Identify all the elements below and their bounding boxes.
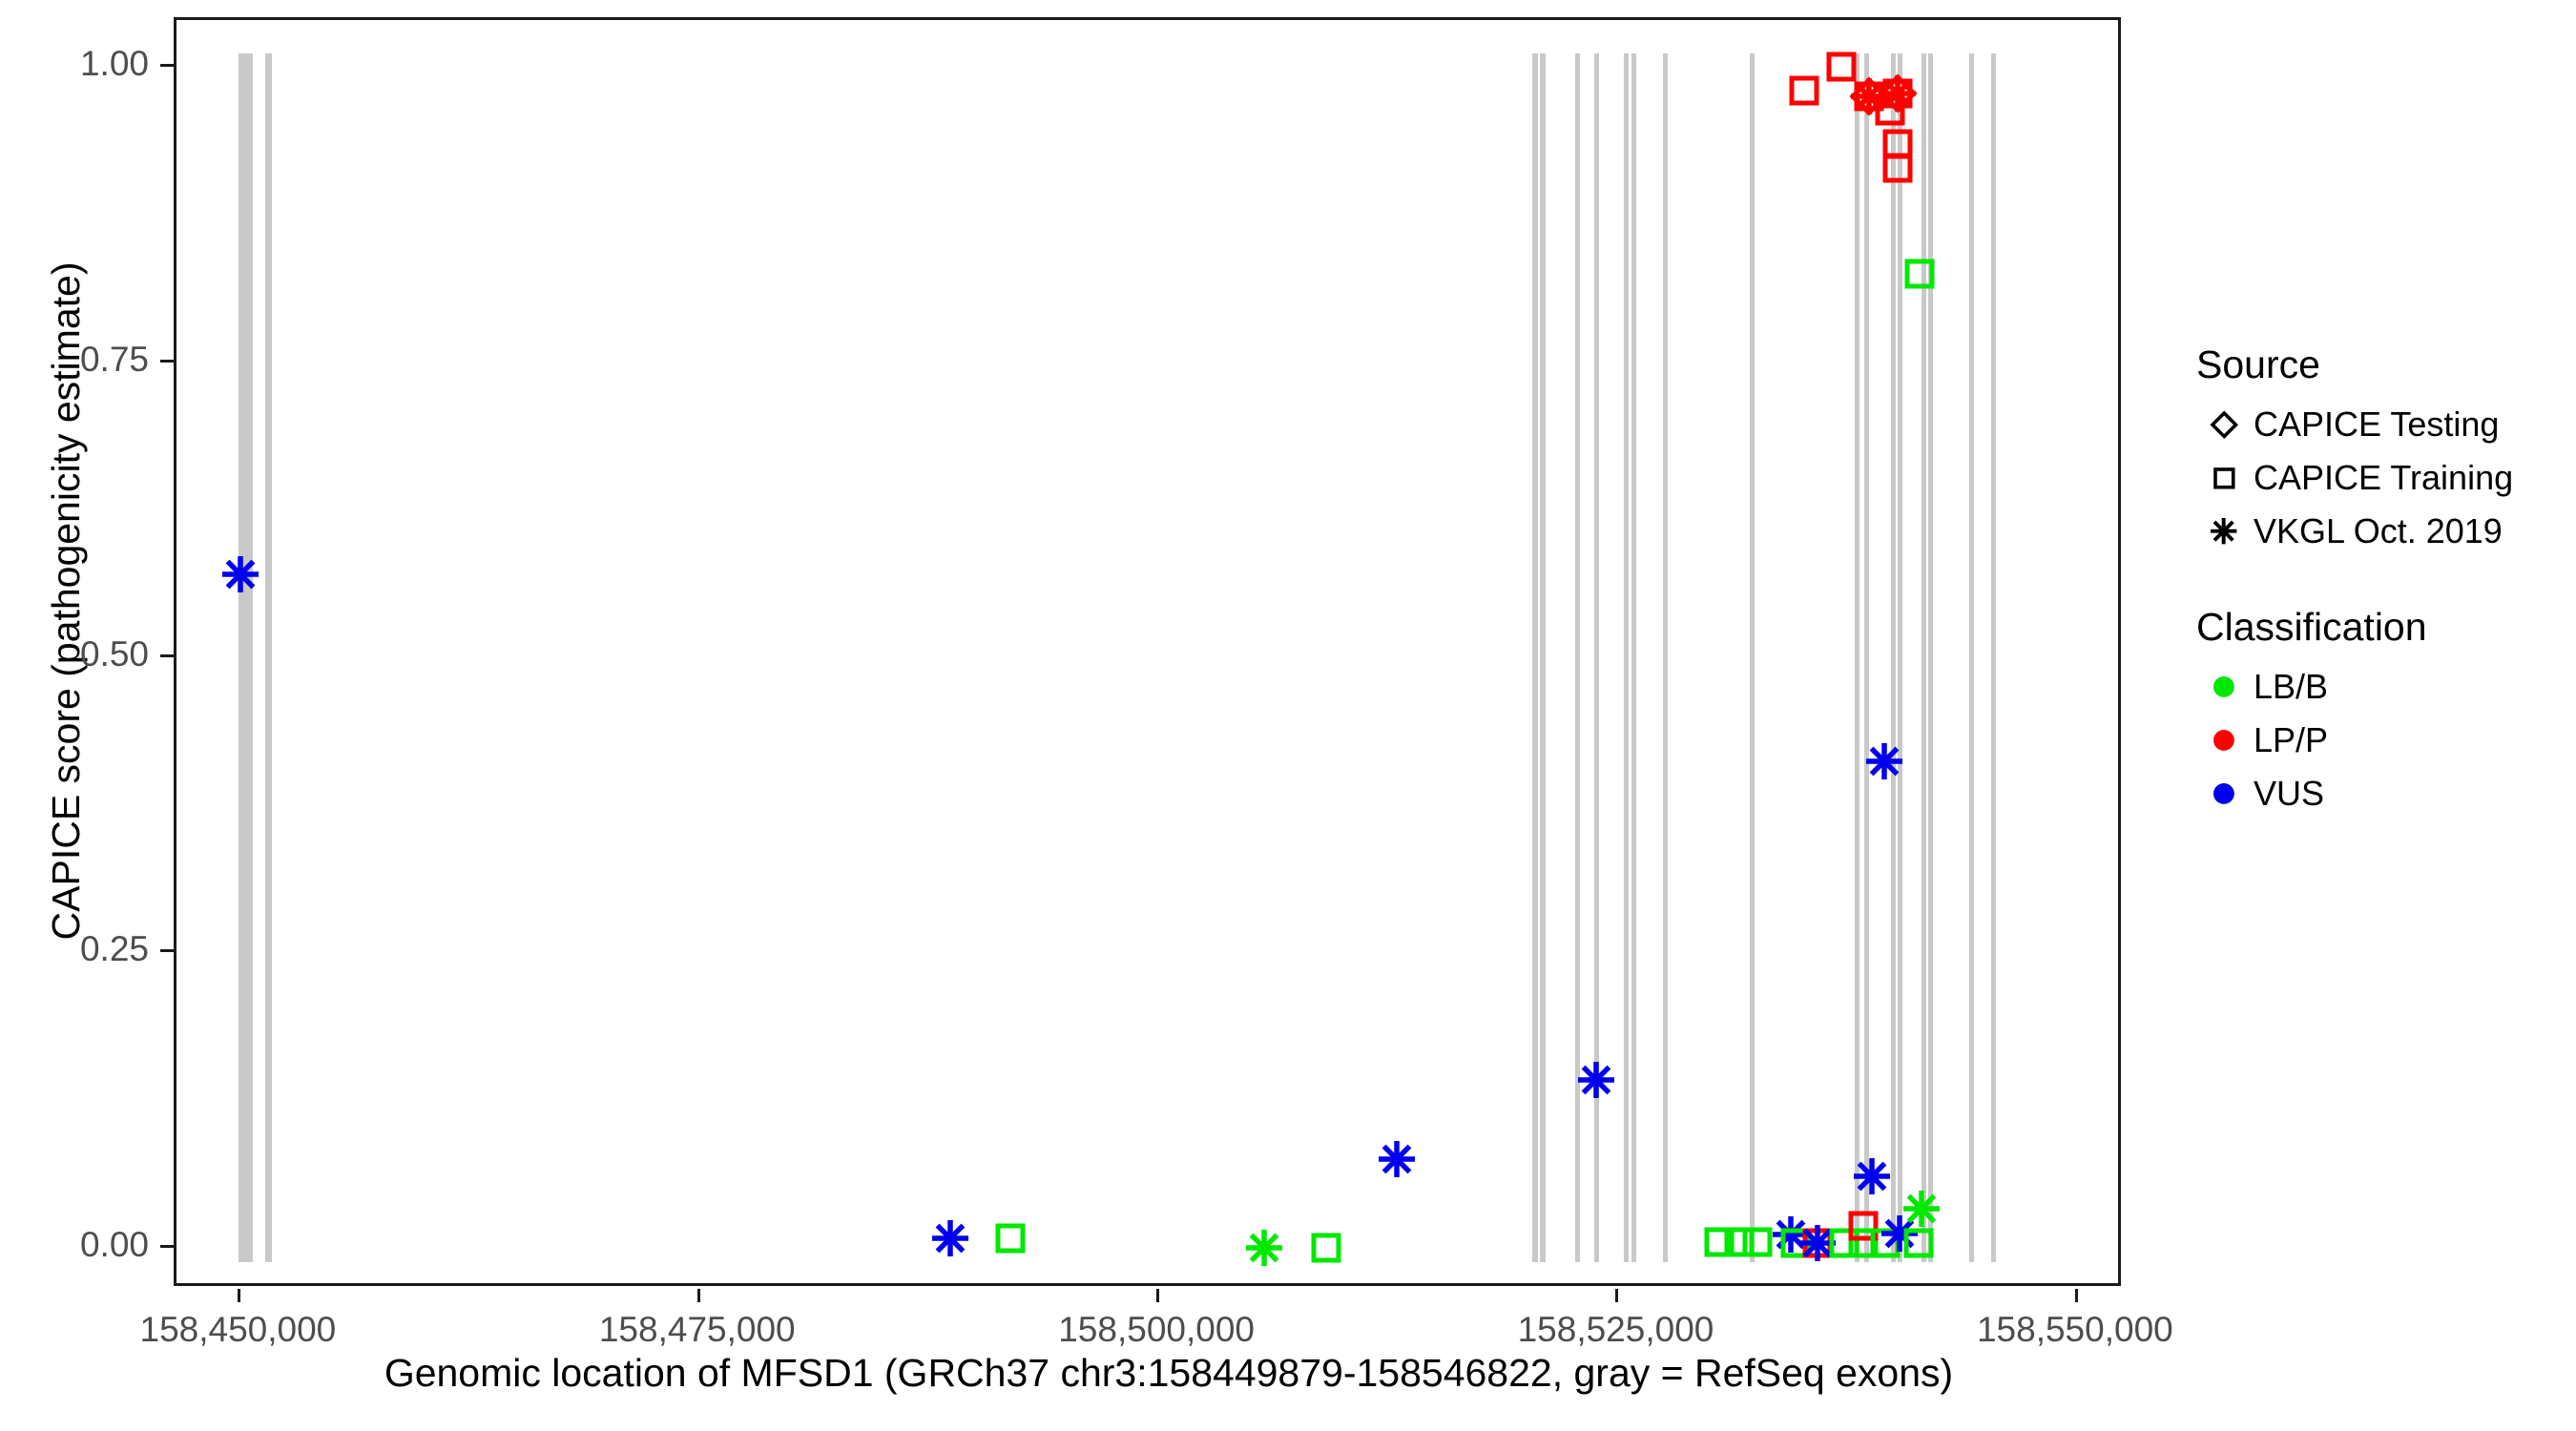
exon-bar bbox=[1631, 53, 1636, 1262]
data-point bbox=[1768, 1212, 1814, 1257]
exon-bar bbox=[1575, 53, 1580, 1262]
y-tick-mark bbox=[160, 360, 174, 363]
circle-icon bbox=[2194, 674, 2254, 700]
x-tick-mark bbox=[697, 1289, 700, 1302]
exon-bar bbox=[1624, 53, 1629, 1262]
legend-block-gap bbox=[2194, 560, 2576, 606]
legend-item-label: LP/P bbox=[2254, 723, 2328, 757]
y-tick-label: 0.75 bbox=[80, 342, 149, 377]
data-point bbox=[1310, 1232, 1342, 1264]
data-point bbox=[994, 1222, 1027, 1255]
x-tick-label: 158,500,000 bbox=[994, 1312, 1319, 1347]
exon-bar bbox=[1891, 53, 1896, 1262]
data-point bbox=[1703, 1226, 1735, 1258]
data-point bbox=[1741, 1226, 1774, 1258]
x-tick-label: 158,450,000 bbox=[75, 1312, 400, 1347]
x-tick-mark bbox=[238, 1289, 240, 1302]
data-point bbox=[1847, 1227, 1880, 1259]
data-point bbox=[1779, 1227, 1812, 1259]
y-tick-label: 0.50 bbox=[80, 636, 149, 672]
y-tick-label: 1.00 bbox=[80, 46, 149, 81]
data-point bbox=[1374, 1136, 1420, 1182]
legend-item-label: LB/B bbox=[2254, 670, 2328, 704]
x-tick-mark bbox=[2075, 1289, 2078, 1302]
x-tick-mark bbox=[1615, 1289, 1618, 1302]
legend-item[interactable]: VKGL Oct. 2019 bbox=[2194, 507, 2576, 556]
exon-bar bbox=[1594, 53, 1599, 1262]
asterisk-icon bbox=[2194, 513, 2254, 549]
y-tick-mark bbox=[160, 949, 174, 952]
data-point bbox=[1847, 1210, 1880, 1242]
exon-bar bbox=[1855, 53, 1859, 1262]
data-point bbox=[1846, 73, 1892, 119]
x-tick-label: 158,475,000 bbox=[535, 1312, 860, 1347]
diamond-icon bbox=[2194, 409, 2254, 440]
y-tick-mark bbox=[160, 64, 174, 67]
exon-bar bbox=[1540, 53, 1546, 1262]
exon-bar bbox=[1969, 53, 1974, 1262]
exon-bar bbox=[1532, 53, 1538, 1262]
data-point bbox=[1869, 1227, 1901, 1259]
legend-item[interactable]: CAPICE Testing bbox=[2194, 400, 2576, 449]
legend-item[interactable]: LP/P bbox=[2194, 715, 2576, 765]
data-point bbox=[1801, 1227, 1834, 1259]
data-point bbox=[1788, 74, 1820, 107]
y-tick-mark bbox=[160, 654, 174, 657]
data-point bbox=[1825, 51, 1858, 83]
x-tick-label: 158,550,000 bbox=[1913, 1312, 2237, 1347]
chart-root: CAPICE score (pathogenicity estimate) 0.… bbox=[0, 0, 2576, 1431]
circle-icon bbox=[2194, 727, 2254, 754]
x-tick-mark bbox=[1156, 1289, 1159, 1302]
exon-bar bbox=[1898, 53, 1902, 1262]
x-axis-title: Genomic location of MFSD1 (GRCh37 chr3:1… bbox=[210, 1350, 2128, 1396]
x-tick-label: 158,525,000 bbox=[1453, 1312, 1777, 1347]
data-point bbox=[1795, 1220, 1840, 1266]
exon-bar bbox=[1864, 53, 1869, 1262]
data-point bbox=[1241, 1225, 1287, 1271]
exon-bar bbox=[239, 53, 253, 1262]
legend-title-classification: Classification bbox=[2196, 606, 2576, 649]
exon-bar bbox=[265, 53, 272, 1262]
legend-item-label: CAPICE Testing bbox=[2254, 407, 2499, 442]
data-point bbox=[927, 1215, 973, 1261]
plot-area bbox=[177, 20, 2118, 1283]
circle-icon bbox=[2194, 780, 2254, 807]
exon-bar bbox=[1928, 53, 1933, 1262]
plot-panel bbox=[174, 17, 2121, 1286]
legend-item-label: VKGL Oct. 2019 bbox=[2254, 514, 2503, 549]
legend-item[interactable]: VUS bbox=[2194, 769, 2576, 819]
square-icon bbox=[2194, 466, 2254, 491]
legend-item-label: CAPICE Training bbox=[2254, 461, 2513, 495]
legend-title-source: Source bbox=[2196, 343, 2576, 386]
legend-item[interactable]: CAPICE Training bbox=[2194, 453, 2576, 503]
exon-bar bbox=[1991, 53, 1996, 1262]
legend: Source CAPICE Testing CAPICE TrainingVKG… bbox=[2194, 343, 2576, 822]
exon-bar bbox=[1663, 53, 1668, 1262]
y-tick-label: 0.25 bbox=[80, 931, 149, 966]
legend-item[interactable]: LB/B bbox=[2194, 662, 2576, 712]
exon-bar bbox=[1922, 53, 1926, 1262]
y-tick-mark bbox=[160, 1245, 174, 1248]
legend-item-label: VUS bbox=[2254, 777, 2324, 811]
exon-bar bbox=[1750, 53, 1755, 1262]
y-axis-title: CAPICE score (pathogenicity estimate) bbox=[44, 0, 88, 1221]
y-tick-label: 0.00 bbox=[80, 1227, 149, 1262]
